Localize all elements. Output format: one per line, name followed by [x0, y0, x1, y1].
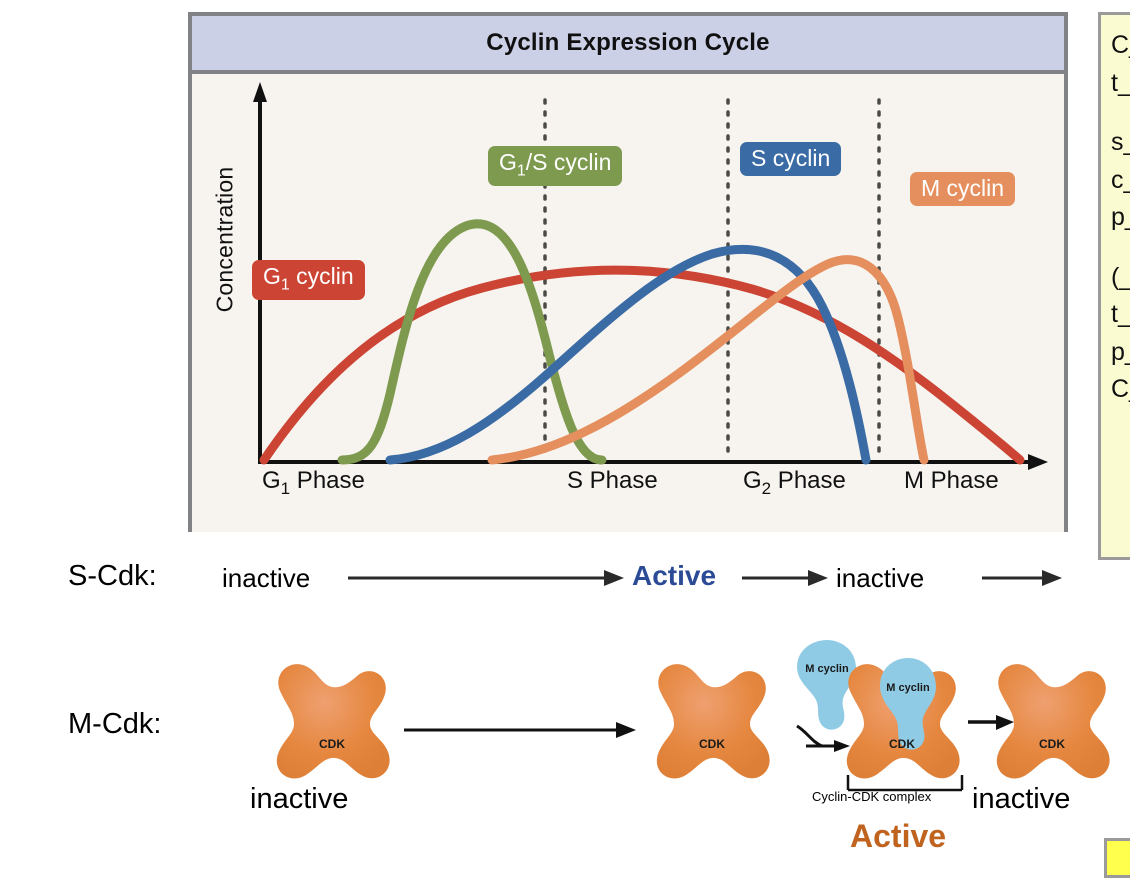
- cdk-blob-inactive-left: CDK: [277, 664, 390, 778]
- s-cdk-arrows-svg: [0, 556, 1130, 606]
- cdk-blob-text: CDK: [889, 737, 915, 751]
- m-cdk-row: M-Cdk: CDK CDK M cyclin: [0, 620, 1130, 866]
- side-note-paragraph-2: s______ _______c______ __ ____p____ ____…: [1111, 124, 1130, 237]
- m-cyclin-blob-text: M cyclin: [805, 663, 849, 675]
- m-cyclin-free-blob: M cyclin: [797, 640, 856, 730]
- y-axis-label: Concentration: [212, 145, 239, 335]
- cdk-blob-text: CDK: [699, 737, 725, 751]
- cdk-blob-prebinding: CDK: [657, 664, 770, 778]
- curve-g1s-cyclin: [342, 224, 602, 460]
- x-tick-s-phase: S Phase: [567, 467, 658, 495]
- cdk-blob-text: CDK: [1039, 737, 1065, 751]
- arrow-inactive-to-active: [348, 570, 624, 586]
- side-note-panel: C_______ ______t_____ ____ ___ s______ _…: [1098, 12, 1130, 560]
- cyclin-cdk-complex: M cyclin CDK: [847, 658, 960, 778]
- arrow-long-to-second-blob: [404, 722, 636, 738]
- page-title: Cyclin Expression Cycle: [486, 29, 769, 57]
- side-note-paragraph-3: (____ __ ______t___ ___ ______p______ __…: [1111, 259, 1130, 409]
- plot-area: Concentration G1 cyclin G1/S cyclin S cy…: [192, 74, 1064, 532]
- x-tick-m-phase: M Phase: [904, 467, 999, 495]
- cdk-blob-text: CDK: [319, 737, 345, 751]
- arrow-to-final-blob: [968, 715, 1014, 730]
- cyclin-curves-svg: [192, 74, 1064, 532]
- cdk-blob-inactive-right: CDK: [997, 664, 1110, 778]
- side-note-paragraph-1: C_______ ______t_____ ____ ___: [1111, 27, 1130, 102]
- axis-lines: [253, 82, 1048, 470]
- cyclin-cdk-complex-caption: Cyclin-CDK complex: [812, 789, 931, 804]
- cyclin-chart-panel: Cyclin Expression Cycle: [188, 12, 1068, 532]
- m-cdk-inactive-left: inactive: [250, 783, 348, 816]
- m-cdk-inactive-right: inactive: [972, 783, 1070, 816]
- m-cyclin-label: M cyclin: [910, 172, 1015, 206]
- x-tick-g1-phase: G1 Phase: [262, 467, 365, 499]
- x-tick-g2-phase: G2 Phase: [743, 467, 846, 499]
- s-cdk-row: S-Cdk: inactive Active inactive: [0, 556, 1130, 606]
- chart-title-bar: Cyclin Expression Cycle: [192, 16, 1064, 74]
- s-cyclin-label: S cyclin: [740, 142, 841, 176]
- m-cdk-diagram-svg: CDK CDK M cyclin M cyclin CDK: [0, 620, 1130, 866]
- m-cyclin-blob-text: M cyclin: [886, 682, 930, 694]
- m-cdk-state-active: Active: [850, 818, 946, 855]
- g1s-cyclin-label: G1/S cyclin: [488, 146, 622, 186]
- binding-arrow: [797, 726, 850, 752]
- corner-yellow-swatch: [1104, 838, 1130, 878]
- g1-cyclin-label: G1 cyclin: [252, 260, 365, 300]
- arrow-active-to-inactive: [742, 570, 828, 586]
- arrow-trailing: [982, 570, 1062, 586]
